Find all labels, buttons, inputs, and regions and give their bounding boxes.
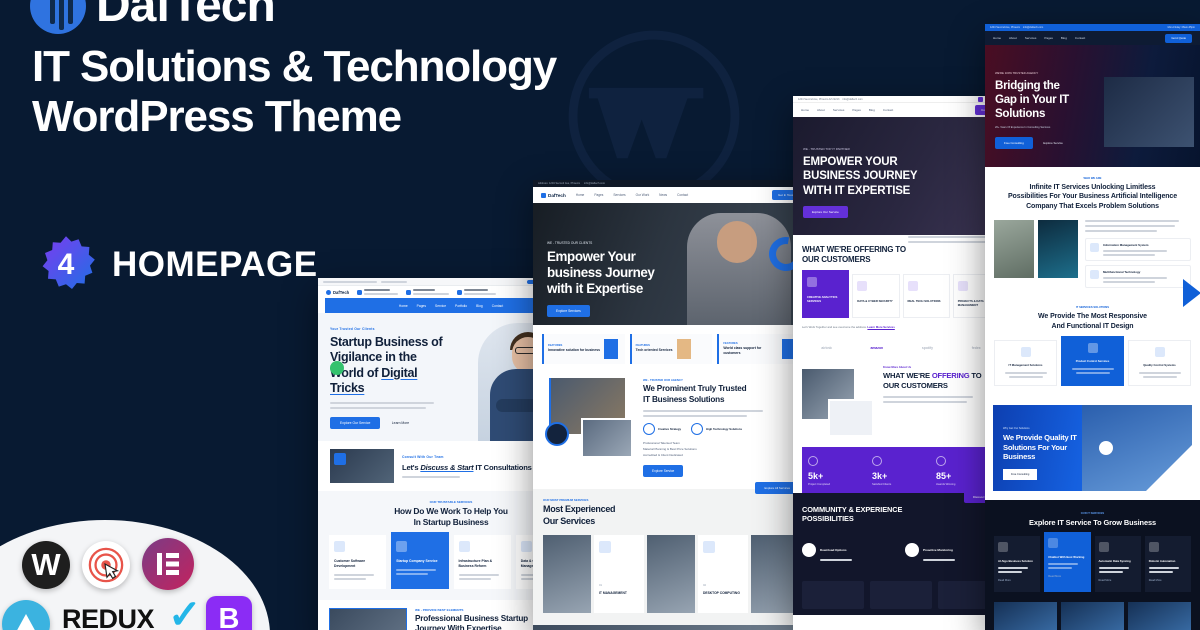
- m3-community-feature-title: Download Options: [820, 548, 847, 552]
- m4-hero-secondary-button[interactable]: Explore Service: [1043, 141, 1063, 145]
- m4-intro-row-title: Information Management System: [1103, 243, 1167, 247]
- m3-topbar-address: 1204 Second Ave, Phoenix AZ 22213: [798, 98, 839, 101]
- m3-offering-title: WHAT WE'RE OFFERING TOOUR CUSTOMERS: [802, 245, 1000, 266]
- stat-icon: [936, 456, 946, 466]
- m4-cta-banner: Why Get Our Solutions We Provide Quality…: [993, 405, 1192, 491]
- m2-hero-eyebrow: WE - TRUSTED OUR CLIENTS: [547, 241, 654, 245]
- m1-work-card-title: Infrastructure Plan & Business Reform: [459, 559, 506, 569]
- service-icon: [396, 541, 407, 552]
- m1-hero-secondary-button[interactable]: Learn More: [392, 421, 409, 425]
- service-icon: [703, 541, 715, 553]
- m4-intro-title: Infinite IT Services Unlocking Limitless…: [994, 183, 1191, 211]
- m2-feature-title: Innovative solution for business: [548, 348, 600, 353]
- m2-feature-eyebrow: FEATURES: [548, 344, 600, 347]
- m4-blog-cards: Web Technology Efficiency Improvement Da…: [985, 602, 1200, 630]
- m2-nav-item[interactable]: Contact: [677, 193, 688, 197]
- headline-line-2: WordPress Theme: [32, 92, 401, 141]
- m2-service-card[interactable]: 02 DESKTOP COMPUTING: [698, 535, 748, 613]
- m2-about-button[interactable]: Explore Service: [643, 465, 683, 477]
- client-logo: spotify: [922, 346, 933, 350]
- stat-icon: [808, 456, 818, 466]
- m2-about-stat-label: High Technology Solutions: [706, 427, 742, 431]
- m2-hero-button[interactable]: Explore Services: [547, 305, 590, 317]
- m3-offering-cards: CREATIVE ANALYTICS SERVICES DATA & CYBER…: [802, 274, 1000, 318]
- m4-explore-card-title: Automatic Data Syncing: [1099, 559, 1137, 563]
- m4-intro-section: WHO WE ARE Infinite IT Services Unlockin…: [985, 167, 1200, 302]
- m4-blog-card[interactable]: Data Services Sustainability & Business …: [1061, 602, 1124, 630]
- m1-nav-item[interactable]: Service: [435, 304, 446, 308]
- m2-service-photo: [647, 535, 695, 613]
- m4-cta-title: We Provide Quality IT Solutions For Your…: [1003, 433, 1089, 462]
- client-logo: airbnb: [821, 346, 831, 350]
- m1-professional-title: Professional Business StartupJourney Wit…: [415, 614, 528, 630]
- m4-responsive-title: We Provide The Most ResponsiveAnd Functi…: [994, 312, 1191, 331]
- m4-hero: WE'RE 100% TRUSTED AGENCY Bridging the G…: [985, 45, 1200, 167]
- m4-explore-card[interactable]: Chatbot With Best Working Read More: [1044, 532, 1090, 592]
- m1-nav-item[interactable]: Contact: [492, 304, 503, 308]
- m3-customers-title: WHAT WE'RE OFFERING TO OUR CUSTOMERS: [883, 371, 981, 391]
- m3-topbar: 1204 Second Ave, Phoenix AZ 22213 info@d…: [793, 96, 1009, 103]
- m1-professional-eyebrow: WE - PROVIDE BEST ELEMENTS: [415, 608, 528, 612]
- m4-responsive-card[interactable]: Quality Control Systems: [1128, 340, 1191, 386]
- m1-nav-item[interactable]: Pages: [417, 304, 426, 308]
- m2-feature-eyebrow: FEATURES: [636, 344, 673, 347]
- m4-blog-image: [1128, 602, 1191, 630]
- m2-features: FEATURES Innovative solution for busines…: [533, 325, 809, 373]
- homepage-label: HOMEPAGE: [112, 245, 318, 285]
- m1-discuss-title: Let's Discuss & Start IT Consultations: [402, 463, 532, 472]
- m2-service-photo: [543, 535, 591, 613]
- m4-responsive-section: IT SERVICES SOLUTIONS We Provide The Mos…: [985, 302, 1200, 396]
- m2-service-number: 01: [599, 583, 602, 587]
- m2-service-title: DESKTOP COMPUTING: [703, 591, 740, 595]
- slider-next-arrow-icon[interactable]: [1183, 279, 1200, 307]
- m2-services-title: Most ExperiencedOur Services: [543, 504, 799, 527]
- m2-footer-image: [533, 625, 809, 630]
- m3-stat: 5k+ Project Completed: [808, 456, 866, 486]
- m2-about-check: Accredited & Client Dedicated: [643, 453, 763, 457]
- m4-responsive-card-title: Product Control Services: [1066, 359, 1119, 363]
- m3-offering-card[interactable]: REAL TECH SOLUTIONS: [903, 274, 950, 318]
- m2-logo[interactable]: DafTech: [541, 193, 566, 198]
- m3-client-logos: airbnb amazon spotify fedex: [793, 339, 1009, 357]
- m4-explore-card-link[interactable]: Read More: [1099, 579, 1137, 582]
- service-icon: [998, 542, 1008, 552]
- circle-bars-logo-icon: [30, 0, 86, 34]
- m3-offering-card[interactable]: DATA & CYBER SECURITY: [852, 274, 899, 318]
- m1-work-card-title: Startup Company Service: [396, 559, 443, 564]
- m2-about-stat: High Technology Solutions: [691, 423, 742, 435]
- m4-blog-card[interactable]: Web Technology Efficiency Improvement: [994, 602, 1057, 630]
- m2-nav-item[interactable]: Services: [613, 193, 625, 197]
- promo-banner: DafTech IT Solutions & Technology WordPr…: [0, 0, 1200, 630]
- service-icon: [1155, 347, 1165, 357]
- m4-cta-corner-shape: [1146, 445, 1192, 491]
- m4-explore-card-title: Chatbot With Best Working: [1048, 555, 1086, 559]
- m4-explore-card-link[interactable]: Read More: [1149, 579, 1187, 582]
- m1-nav-item[interactable]: Portfolio: [455, 304, 467, 308]
- m4-explore-card[interactable]: AI Algo Business Solution Read More: [994, 536, 1040, 592]
- stat-icon: [872, 456, 882, 466]
- m3-stats: 5k+ Project Completed 3k+ Satisfied Clie…: [802, 447, 1000, 495]
- m2-topbar-address: Address: 1204 Second Ave, Phoenix: [538, 182, 580, 185]
- award-badge-icon: [545, 422, 569, 446]
- m2-feature-title: Tech oriented Services: [636, 348, 673, 353]
- m2-feature-card[interactable]: FEATURES World class support for custome…: [717, 334, 800, 364]
- play-icon[interactable]: [334, 453, 346, 465]
- facebook-icon: [978, 97, 983, 102]
- wordpress-watermark-icon: [566, 28, 742, 204]
- m4-responsive-card-title: IT Management Solutions: [999, 363, 1052, 367]
- m4-hero-image: [1104, 77, 1194, 147]
- m4-responsive-card-title: Quality Control Systems: [1133, 363, 1186, 367]
- homepage-count: 4 HOMEPAGE: [36, 235, 318, 295]
- m1-work-card[interactable]: Startup Company Service: [391, 532, 448, 589]
- elementor-icon: [142, 538, 194, 590]
- headline-line-1: IT Solutions & Technology: [32, 42, 556, 91]
- m3-hero-eyebrow: WE - TRUSTED TOP IT PARTNER: [803, 147, 999, 151]
- m2-service-number: 02: [703, 583, 706, 587]
- m1-logo[interactable]: DafTech: [326, 290, 349, 295]
- m4-responsive-card[interactable]: IT Management Solutions: [994, 340, 1057, 386]
- m4-intro-images: [994, 220, 1078, 292]
- m3-hero-title: EMPOWER YOUR BUSINESS JOURNEY WITH IT EX…: [803, 155, 999, 198]
- m1-info-phone: [457, 289, 496, 295]
- m2-feature-card[interactable]: FEATURES Tech oriented Services: [630, 334, 713, 364]
- m3-offering-card[interactable]: CREATIVE ANALYTICS SERVICES: [802, 270, 849, 318]
- m3-offering-section: WHAT WE'RE OFFERING TOOUR CUSTOMERS CREA…: [793, 235, 1009, 339]
- m3-stat: 3k+ Satisfied Clients: [872, 456, 930, 486]
- m3-footer: [793, 575, 1009, 615]
- m4-explore-section: OUR IT SERVICES Explore IT Service To Gr…: [985, 500, 1200, 602]
- m4-intro-row[interactable]: Information Management System: [1085, 238, 1191, 261]
- m1-work-card-title: Customer Software Development: [334, 559, 381, 569]
- m4-explore-card[interactable]: Automatic Data Syncing Read More: [1095, 536, 1141, 592]
- m2-nav-item[interactable]: Our Work: [636, 193, 650, 197]
- m2-about-check: Material Planning & Best Price Solutions: [643, 447, 763, 451]
- m3-community-title: COMMUNITY & EXPERIENCEPOSSIBILITIES: [802, 505, 1000, 524]
- service-icon: [958, 281, 968, 291]
- m2-nav-item[interactable]: Pages: [594, 193, 603, 197]
- m4-header[interactable]: Home About Services Pages Blog Contact G…: [985, 31, 1200, 45]
- mockup-homepage-3[interactable]: 1204 Second Ave, Phoenix AZ 22213 info@d…: [793, 96, 1009, 630]
- m4-explore-title: Explore IT Service To Grow Business: [994, 518, 1191, 527]
- m2-about-stat: Creative Strategy: [643, 423, 681, 435]
- m3-offering-note: Let's Work Together and see overcome the…: [802, 325, 1000, 329]
- m3-hero: WE - TRUSTED TOP IT PARTNER EMPOWER YOUR…: [793, 117, 1009, 235]
- m2-service-title: IT MANAGEMENT: [599, 591, 627, 595]
- m3-community-features: Download Options Proactive Monitoring: [802, 538, 1000, 561]
- m4-topbar-address: 1204 Second Ave, Phoenix: [990, 26, 1020, 29]
- m4-cta-eyebrow: Why Get Our Solutions: [1003, 427, 1089, 430]
- m2-topbar-email: info@daftech.com: [584, 182, 605, 185]
- service-icon: [1149, 542, 1159, 552]
- m2-hero: WE - TRUSTED OUR CLIENTS Empower Your bu…: [533, 203, 809, 325]
- m1-work-card[interactable]: Infrastructure Plan & Business Reform: [454, 535, 511, 589]
- m4-hero-primary-button[interactable]: Free Consulting: [995, 137, 1033, 149]
- m1-work-card[interactable]: Customer Software Development: [329, 535, 386, 589]
- service-icon: [1099, 542, 1109, 552]
- m2-hero-person-image: [687, 213, 791, 325]
- m2-about-check: Professional Talented Team: [643, 441, 763, 445]
- mockup-homepage-4[interactable]: 1204 Second Ave, Phoenix info@daftech.co…: [985, 24, 1200, 630]
- m4-blog-image: [1061, 602, 1124, 630]
- m4-nav-item[interactable]: Services: [1025, 36, 1037, 40]
- m4-topbar: 1204 Second Ave, Phoenix info@daftech.co…: [985, 24, 1200, 31]
- bootstrap-icon: B: [206, 596, 252, 630]
- m4-topbar-email: info@daftech.com: [1023, 26, 1043, 29]
- m4-cta-button[interactable]: Get A Quote: [1165, 34, 1192, 43]
- m2-about-checklist: Professional Talented Team Material Plan…: [643, 441, 763, 457]
- m2-feature-card[interactable]: FEATURES Innovative solution for busines…: [542, 334, 625, 364]
- redux-wordmark-icon: REDUX: [62, 604, 154, 630]
- m3-nav-item[interactable]: Services: [833, 108, 845, 112]
- feature-icon: [802, 543, 816, 557]
- page-title: IT Solutions & Technology WordPress Them…: [32, 42, 556, 141]
- m3-header[interactable]: Home About Services Pages Blog Contact C…: [793, 103, 1009, 117]
- m4-nav-item[interactable]: Blog: [1061, 36, 1067, 40]
- service-icon: [908, 281, 918, 291]
- service-icon: [521, 541, 532, 552]
- m4-nav-item[interactable]: About: [1009, 36, 1017, 40]
- m3-stat-label: Project Completed: [808, 483, 866, 486]
- service-icon: [1088, 343, 1098, 353]
- service-icon: [1048, 538, 1058, 548]
- m4-nav-item[interactable]: Contact: [1075, 36, 1085, 40]
- service-icon: [807, 277, 817, 287]
- m2-service-photo: [751, 535, 799, 613]
- m1-nav-item[interactable]: Blog: [476, 304, 483, 308]
- m4-hero-title: Bridging the Gap in Your IT Solutions: [995, 79, 1099, 121]
- m2-topbar: Address: 1204 Second Ave, Phoenix info@d…: [533, 180, 809, 187]
- progress-ring-icon: [643, 423, 655, 435]
- m4-explore-card[interactable]: Robotic Automation Read More: [1145, 536, 1191, 592]
- m3-offering-card-title: REAL TECH SOLUTIONS: [908, 299, 945, 303]
- redux-check-icon: ✓: [168, 592, 202, 630]
- client-logo: fedex: [972, 346, 981, 350]
- m4-explore-card-link[interactable]: Read More: [1048, 575, 1086, 578]
- m4-intro-eyebrow: WHO WE ARE: [994, 177, 1191, 180]
- m3-offering-card-title: DATA & CYBER SECURITY: [857, 299, 894, 303]
- m2-services-grid: 01 IT MANAGEMENT 02 DESKTOP COMPUTING: [543, 535, 799, 613]
- m2-about-stats: Creative Strategy High Technology Soluti…: [643, 423, 763, 435]
- m3-offering-note-link[interactable]: Learn More Services: [867, 325, 894, 329]
- brand-name: DafTech: [96, 0, 275, 34]
- m4-nav-item[interactable]: Pages: [1044, 36, 1053, 40]
- mockup-homepage-2[interactable]: Address: 1204 Second Ave, Phoenix info@d…: [533, 180, 809, 630]
- m4-blog-image: [994, 602, 1057, 630]
- service-icon: [1021, 347, 1031, 357]
- m2-about-title: We Prominent Truly TrustedIT Business So…: [643, 384, 763, 405]
- m3-community-feature: Download Options: [802, 538, 897, 561]
- service-icon: [459, 541, 470, 552]
- m3-topbar-email: info@daftech.com: [842, 98, 862, 101]
- m2-about-stat-label: Creative Strategy: [658, 427, 681, 431]
- m1-info-email: [406, 289, 449, 295]
- m4-responsive-card[interactable]: Product Control Services: [1061, 336, 1124, 386]
- m1-hero-title: Startup Business of Vigilance in the Wor…: [330, 335, 448, 396]
- m4-responsive-eyebrow: IT SERVICES SOLUTIONS: [994, 306, 1191, 309]
- feature-icon: [604, 339, 618, 359]
- m2-feature-eyebrow: FEATURES: [723, 342, 778, 345]
- m2-about-section: WE - TRUSTED OUR AGENCY We Prominent Tru…: [533, 373, 809, 489]
- m2-services-section: Explore All Services OUR MOST PREMIUM SE…: [533, 489, 809, 625]
- m2-header[interactable]: DafTech Home Pages Services Our Work New…: [533, 187, 809, 203]
- m3-customers-images: [802, 365, 876, 437]
- m1-professional-image: [329, 608, 407, 630]
- service-icon: [334, 541, 345, 552]
- m4-blog-card[interactable]: Cyber Technology Evaluation Efficiency A…: [1128, 602, 1191, 630]
- service-icon: [599, 541, 611, 553]
- m4-intro-row[interactable]: Multifunctional Technology: [1085, 265, 1191, 288]
- m3-nav-item[interactable]: About: [817, 108, 825, 112]
- m3-stat-value: 5k+: [808, 471, 866, 481]
- m1-nav-item[interactable]: Home: [399, 304, 408, 308]
- m4-explore-eyebrow: OUR IT SERVICES: [994, 512, 1191, 515]
- m3-nav-item[interactable]: Contact: [883, 108, 893, 112]
- progress-ring-icon: [691, 423, 703, 435]
- m2-nav-item[interactable]: Home: [576, 193, 585, 197]
- m4-explore-card-title: Robotic Automation: [1149, 559, 1187, 563]
- m4-explore-card-title: AI Algo Business Solution: [998, 559, 1036, 563]
- m4-explore-card-link[interactable]: Read More: [998, 579, 1036, 582]
- m2-about-eyebrow: WE - TRUSTED OUR AGENCY: [643, 378, 763, 382]
- starburst-badge-icon: 4: [36, 235, 96, 295]
- homepage-count-value: 4: [36, 235, 96, 295]
- m4-intro-row-title: Multifunctional Technology: [1103, 270, 1167, 274]
- m4-hero-eyebrow: WE'RE 100% TRUSTED AGENCY: [995, 71, 1099, 75]
- m2-service-card[interactable]: 01 IT MANAGEMENT: [594, 535, 644, 613]
- m4-topbar-hours: Mon-Friday: 08am-05pm: [1168, 26, 1195, 29]
- wordpress-icon: W: [22, 541, 70, 589]
- m4-explore-cards: AI Algo Business Solution Read More Chat…: [994, 536, 1191, 592]
- m4-cta-button[interactable]: Free Consulting: [1003, 469, 1037, 480]
- info-icon: [1090, 243, 1099, 252]
- client-logo: amazon: [871, 346, 884, 350]
- m3-community-feature-title: Proactive Monitoring: [923, 548, 953, 552]
- m3-community-section: Discover More COMMUNITY & EXPERIENCEPOSS…: [793, 493, 1009, 575]
- m2-nav-item[interactable]: News: [659, 193, 667, 197]
- m1-chip-green-icon: [330, 361, 344, 375]
- feature-icon: [905, 543, 919, 557]
- m3-stat-label: Satisfied Clients: [872, 483, 930, 486]
- m3-nav-item[interactable]: Home: [801, 108, 809, 112]
- m3-offering-card-title: CREATIVE ANALYTICS SERVICES: [807, 295, 844, 303]
- m4-intro-body: Information Management System Multifunct…: [994, 220, 1191, 292]
- info-icon: [1090, 270, 1099, 279]
- m1-discuss-eyebrow: Consult With Our Team: [402, 455, 532, 459]
- m1-hero-primary-button[interactable]: Explore Our Service: [330, 417, 380, 429]
- m1-info-hours: [357, 289, 398, 295]
- m3-hero-button[interactable]: Explore Our Service: [803, 206, 848, 218]
- m3-nav-item[interactable]: Pages: [852, 108, 861, 112]
- one-click-cursor-icon: [82, 541, 130, 589]
- m4-responsive-cards: IT Management Solutions Product Control …: [994, 340, 1191, 386]
- m2-services-eyebrow: OUR MOST PREMIUM SERVICES: [543, 498, 799, 502]
- service-icon: [857, 281, 867, 291]
- m2-hero-title: Empower Your business Journey with it Ex…: [547, 249, 654, 297]
- m4-hero-subtitle: 20+ Years Of Experience In Consulting Se…: [995, 126, 1099, 129]
- feature-icon: [677, 339, 691, 359]
- brand-logo: DafTech: [30, 0, 275, 34]
- m3-customers-section: Know More About Us WHAT WE'RE OFFERING T…: [793, 357, 1009, 447]
- m3-customers-eyebrow: Know More About Us: [883, 365, 981, 369]
- m3-nav-item[interactable]: Blog: [869, 108, 875, 112]
- m1-discuss-image: [330, 449, 394, 483]
- m3-stat-value: 3k+: [872, 471, 930, 481]
- m2-about-images: [543, 378, 635, 460]
- m2-feature-title: World class support for customers: [723, 346, 778, 356]
- m4-nav-item[interactable]: Home: [993, 36, 1001, 40]
